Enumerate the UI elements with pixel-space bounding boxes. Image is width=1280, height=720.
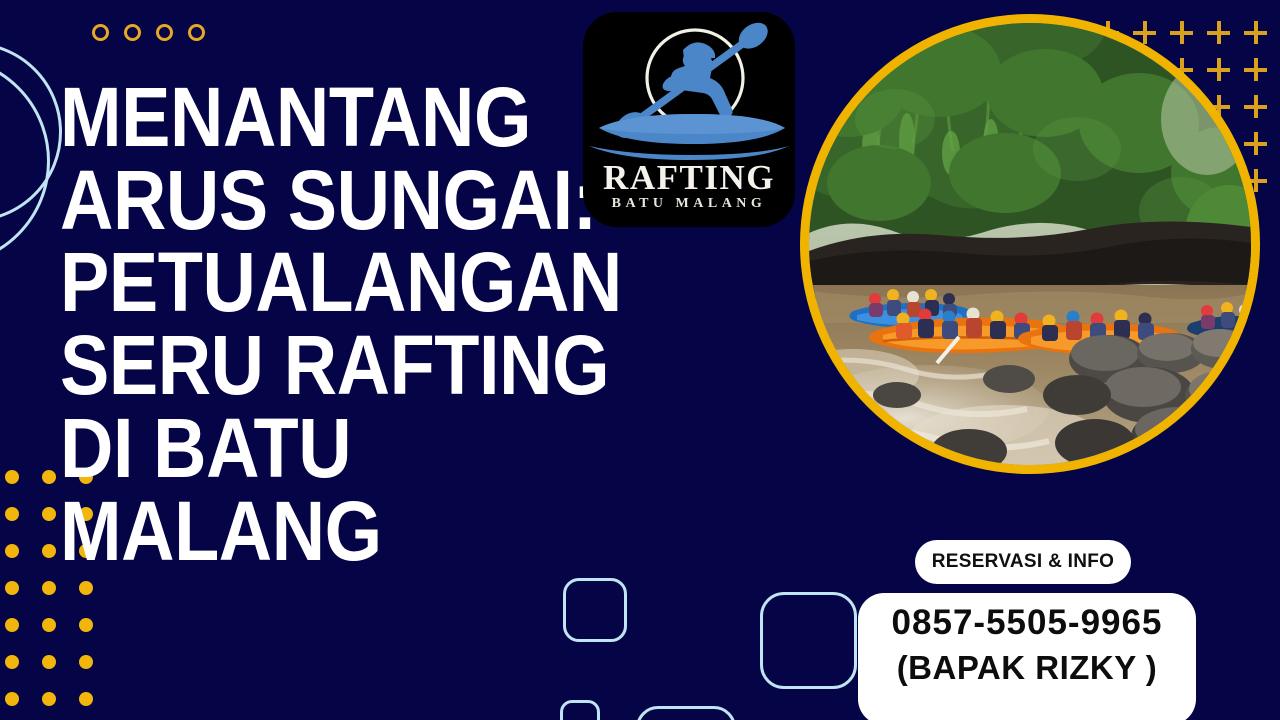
headline-line-1: MENANTANG [60, 76, 526, 159]
gold-dot-icon [42, 544, 56, 558]
gold-dot-icon [5, 581, 19, 595]
rafting-photo-illustration [809, 23, 1251, 465]
gold-dot-icon [79, 581, 93, 595]
gold-plus-icon [1170, 21, 1193, 44]
phone-number[interactable]: 0857-5505-9965 [858, 603, 1196, 643]
gold-dot-icon [79, 655, 93, 669]
gold-plus-icon [1244, 132, 1267, 155]
contact-person-name: (BAPAK RIZKY ) [858, 649, 1196, 687]
gold-dot-icon [79, 692, 93, 706]
gold-dot-icon [79, 618, 93, 632]
gold-dot-icon [42, 618, 56, 632]
headline-line-6: MALANG [60, 490, 526, 573]
gold-dot-icon [5, 618, 19, 632]
gold-ring-icon [92, 24, 109, 41]
decorative-rounded-square [760, 592, 857, 689]
gold-dot-icon [42, 470, 56, 484]
kayaker-paddler-icon [583, 16, 795, 166]
gold-ring-icon [156, 24, 173, 41]
reservation-badge: RESERVASI & INFO [915, 540, 1131, 584]
gold-dot-icon [5, 470, 19, 484]
gold-dot-icon [42, 655, 56, 669]
gold-plus-icon [1244, 58, 1267, 81]
headline-line-2: ARUS SUNGAI: [60, 159, 526, 242]
gold-dot-icon [5, 655, 19, 669]
contact-card: 0857-5505-9965 (BAPAK RIZKY ) [858, 593, 1196, 720]
gold-dot-icon [42, 692, 56, 706]
gold-dot-icon [5, 507, 19, 521]
gold-ring-icon [188, 24, 205, 41]
gold-dot-icon [42, 507, 56, 521]
brand-logo: RAFTING BATU MALANG [583, 12, 795, 227]
logo-wordmark: RAFTING [583, 158, 795, 198]
gold-plus-icon [1207, 21, 1230, 44]
decorative-rounded-square [560, 700, 600, 720]
decorative-gold-ring-row [92, 24, 205, 41]
decorative-rounded-square [563, 578, 627, 642]
gold-ring-icon [124, 24, 141, 41]
headline-line-4: SERU RAFTING [60, 324, 526, 407]
photo-gold-ring [800, 14, 1260, 474]
rafting-photo [809, 23, 1251, 465]
gold-dot-icon [5, 692, 19, 706]
decorative-rounded-square [636, 706, 736, 720]
reservation-badge-label: RESERVASI & INFO [932, 551, 1115, 573]
gold-dot-icon [5, 544, 19, 558]
gold-dot-icon [42, 581, 56, 595]
gold-plus-icon [1207, 58, 1230, 81]
poster-canvas: MENANTANG ARUS SUNGAI: PETUALANGAN SERU … [0, 0, 1280, 720]
gold-plus-icon [1244, 21, 1267, 44]
headline: MENANTANG ARUS SUNGAI: PETUALANGAN SERU … [60, 76, 526, 572]
headline-line-3: PETUALANGAN [60, 241, 526, 324]
gold-plus-icon [1244, 95, 1267, 118]
logo-subtitle: BATU MALANG [583, 196, 795, 212]
headline-line-5: DI BATU [60, 407, 526, 490]
